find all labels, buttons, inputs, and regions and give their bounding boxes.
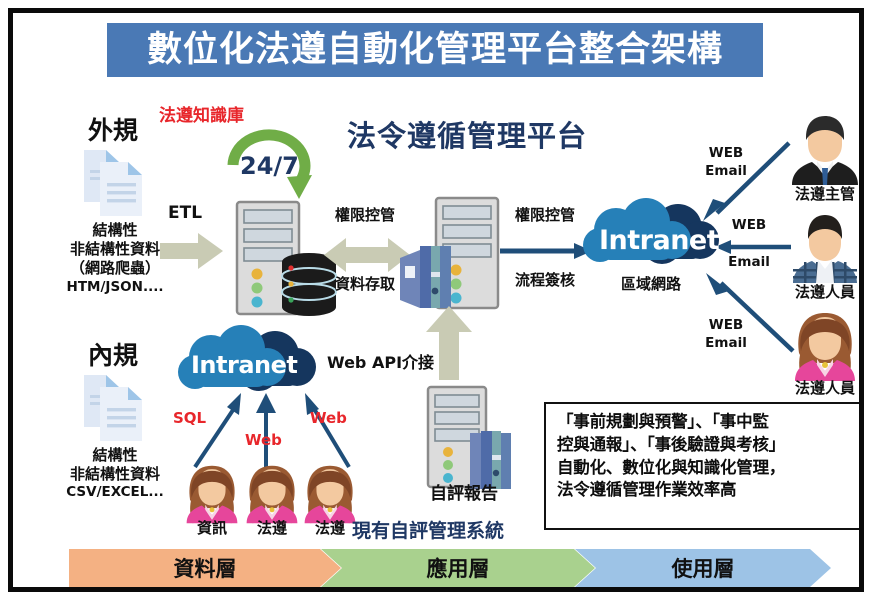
internal-reg-heading: 內規: [53, 336, 173, 372]
avatar-female-pink-icon: [786, 305, 864, 387]
user-0-channel-0: WEB: [699, 144, 753, 162]
layer-label-app: 應用層: [427, 553, 490, 583]
user-2-channel-0: WEB: [699, 316, 753, 334]
bottom-user-0-protocol: SQL: [173, 409, 206, 427]
user-2-name: 法遵人員: [769, 379, 864, 398]
summary-box: 「事前規劃與預警」、「事中監 控與通報」、「事後驗證與考核」 自動化、數位化與知…: [544, 402, 862, 530]
right-arrow-icon: [500, 241, 592, 265]
avatar-male-plaid-icon: [786, 209, 864, 291]
diagram-frame: 數位化法遵自動化管理平台整合架構 外規 結構性 非結構性資料 （網路爬蟲） HT…: [8, 8, 864, 592]
etl-label: ETL: [168, 203, 202, 223]
up-arrow-icon: [425, 306, 473, 384]
intranet-bottom-label: Intranet: [191, 351, 297, 379]
layer-chip-user: 使用層: [575, 549, 831, 587]
avatar-male-suit-icon: [786, 111, 864, 193]
layer-band: 資料層 應用層 使用層: [69, 549, 831, 587]
assessment-server-label: 自評報告: [405, 484, 523, 506]
user-1-channel-1: Email: [722, 254, 776, 272]
existing-system-label: 現有自評管理系統: [352, 516, 504, 543]
user-0-name: 法遵主管: [769, 185, 864, 204]
internal-reg-line-0: 結構性: [27, 446, 203, 465]
summary-line-1: 控與通報」、「事後驗證與考核」: [557, 434, 851, 457]
external-reg-heading: 外規: [53, 111, 173, 147]
summary-line-2: 自動化、數位化與知識化管理，: [557, 457, 851, 480]
page-title-text: 數位化法遵自動化管理平台整合架構: [147, 33, 723, 68]
bottom-user-1-protocol: Web: [245, 431, 282, 449]
intranet-bottom-caption: Web API介接: [327, 353, 434, 373]
external-reg-line-3: HTM/JSON....: [35, 279, 195, 297]
layer-label-user: 使用層: [672, 553, 735, 583]
page-title: 數位化法遵自動化管理平台整合架構: [107, 23, 763, 77]
summary-line-3: 法令遵循管理作業效率高: [557, 479, 851, 502]
layer-label-data: 資料層: [174, 553, 237, 583]
bottom-user-2-protocol: Web: [310, 409, 347, 427]
platform-title: 法令遵循管理平台: [347, 113, 587, 155]
summary-line-0: 「事前規劃與預警」、「事中監: [557, 411, 851, 434]
internal-reg-line-1: 非結構性資料: [27, 465, 203, 484]
document-stack-icon: [80, 371, 154, 449]
user-2-channel-1: Email: [699, 334, 753, 352]
intranet-top-caption: 區域網路: [593, 275, 709, 294]
server-folders-icon: [398, 196, 510, 322]
layer-chip-app: 應用層: [321, 549, 595, 587]
user-0-channel-1: Email: [699, 162, 753, 180]
knowledge-base-label: 法遵知識庫: [159, 101, 244, 126]
user-1-channel-0: WEB: [722, 217, 776, 235]
cycle-label: 24/7: [240, 152, 299, 180]
layer-chip-data: 資料層: [69, 549, 341, 587]
document-stack-icon: [80, 146, 154, 224]
right-arrow-icon: [160, 231, 224, 275]
internal-reg-line-2: CSV/EXCEL...: [27, 484, 203, 502]
intranet-top-label: Intranet: [599, 225, 719, 256]
